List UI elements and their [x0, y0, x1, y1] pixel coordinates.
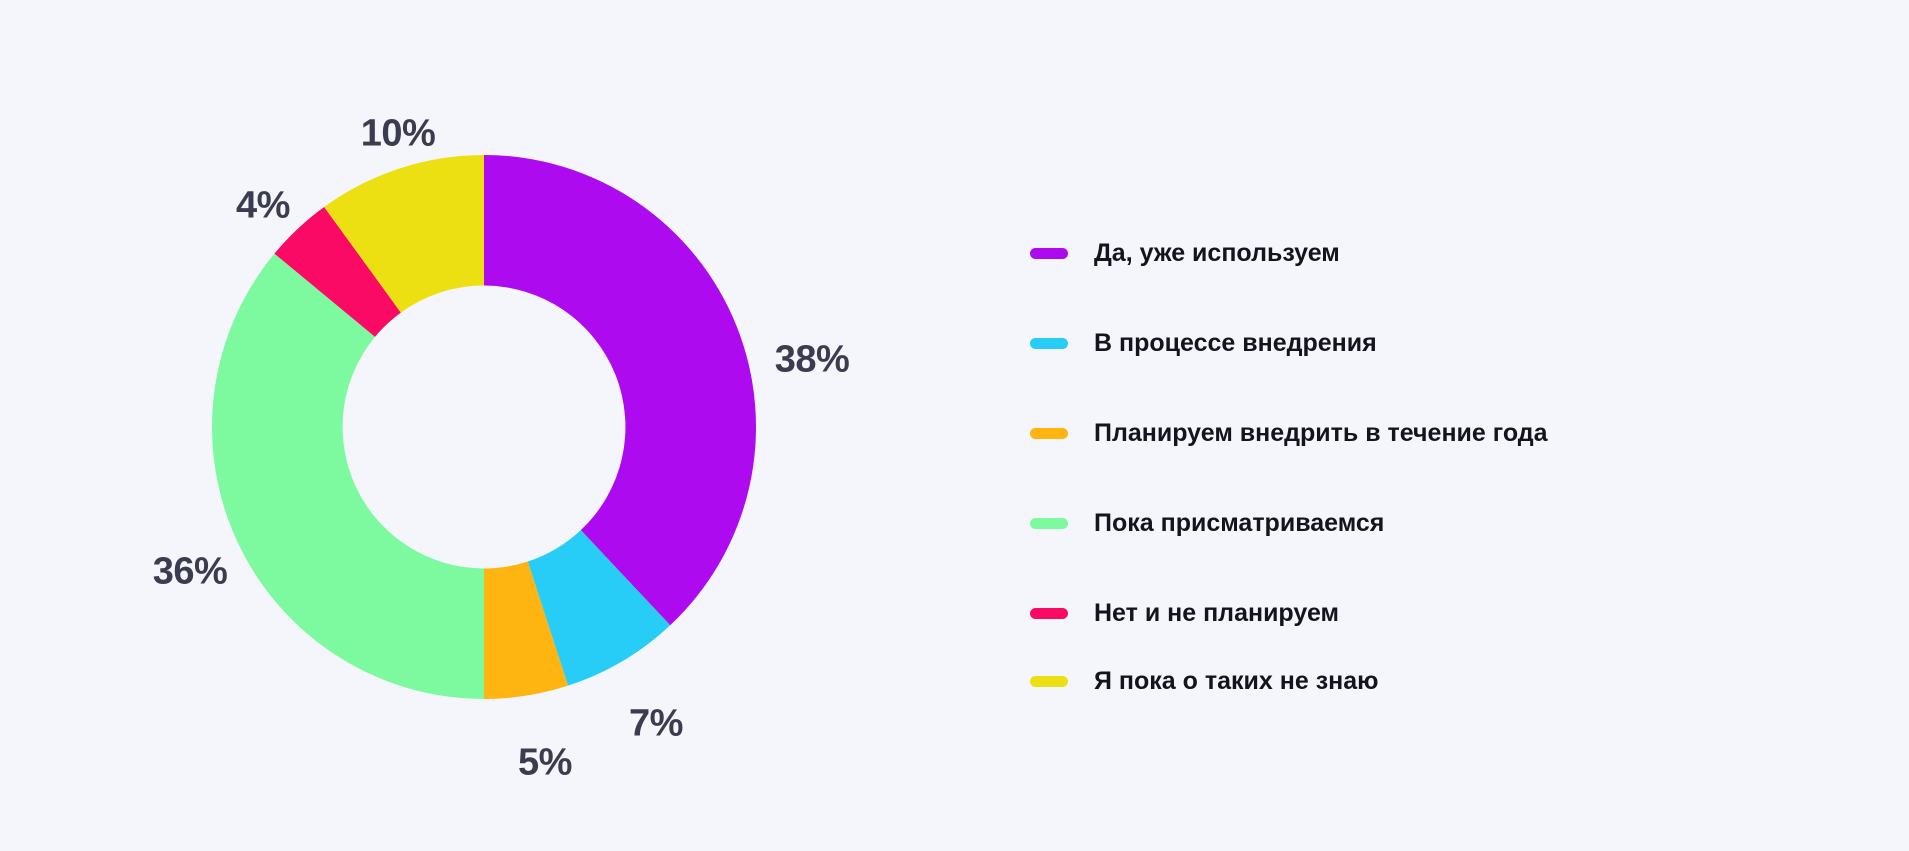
legend-item[interactable]: Пока присматриваемся: [1030, 510, 1810, 536]
legend-item-label: Да, уже используем: [1094, 240, 1340, 266]
slice-percent-label: 5%: [518, 742, 572, 785]
legend-swatch-icon: [1030, 676, 1068, 687]
legend-swatch-icon: [1030, 518, 1068, 529]
legend-item-label: Пока присматриваемся: [1094, 510, 1384, 536]
slice-percent-label: 36%: [153, 551, 228, 594]
legend-item[interactable]: Я пока о таких не знаю: [1030, 668, 1810, 694]
legend-item-label: В процессе внедрения: [1094, 330, 1377, 356]
legend-item[interactable]: Да, уже используем: [1030, 240, 1810, 266]
legend-item-label: Планируем внедрить в течение года: [1094, 420, 1548, 446]
legend-item[interactable]: Нет и не планируем: [1030, 600, 1810, 626]
donut-slice[interactable]: [484, 155, 756, 625]
slice-percent-label: 38%: [775, 339, 850, 382]
legend-item[interactable]: Планируем внедрить в течение года: [1030, 420, 1810, 446]
chart-canvas: 38%7%5%36%4%10% Да, уже используемВ проц…: [0, 0, 1909, 851]
donut-chart-area: 38%7%5%36%4%10%: [0, 0, 980, 851]
legend-swatch-icon: [1030, 338, 1068, 349]
donut-slice[interactable]: [212, 254, 484, 699]
legend-item-label: Нет и не планируем: [1094, 600, 1339, 626]
slice-percent-label: 10%: [361, 113, 436, 156]
chart-legend: Да, уже используемВ процессе внедренияПл…: [1030, 240, 1810, 694]
donut-chart: [0, 0, 980, 851]
slice-percent-label: 4%: [236, 185, 290, 228]
legend-item-label: Я пока о таких не знаю: [1094, 668, 1378, 694]
legend-swatch-icon: [1030, 248, 1068, 259]
legend-item[interactable]: В процессе внедрения: [1030, 330, 1810, 356]
legend-swatch-icon: [1030, 608, 1068, 619]
legend-swatch-icon: [1030, 428, 1068, 439]
slice-percent-label: 7%: [629, 703, 683, 746]
